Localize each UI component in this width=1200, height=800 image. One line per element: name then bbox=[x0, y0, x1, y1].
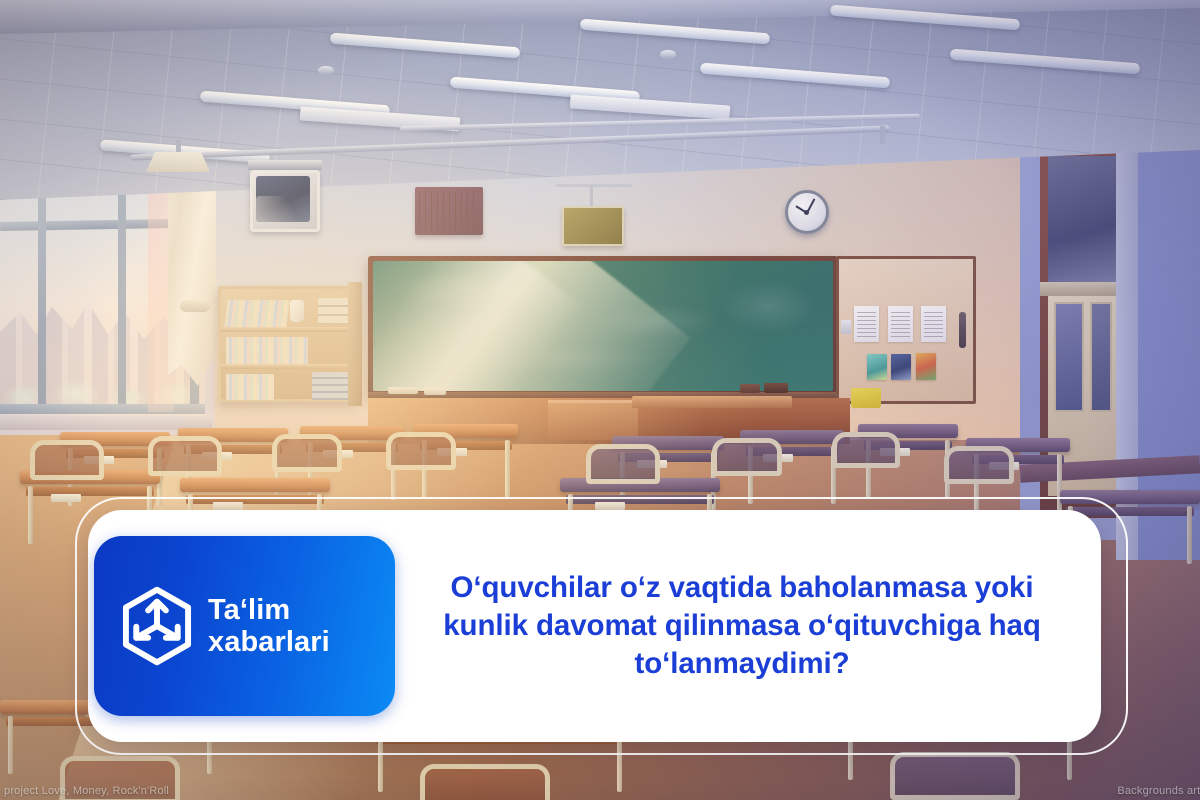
desk-shelf bbox=[566, 495, 714, 504]
student-chair bbox=[386, 432, 456, 470]
watermark-right: Backgrounds art b bbox=[1117, 785, 1200, 797]
student-chair-foreground bbox=[890, 752, 1020, 800]
student-chair bbox=[944, 446, 1014, 484]
brand-name-line1: Ta‘lim bbox=[208, 594, 330, 626]
projector-mount-right bbox=[880, 126, 885, 144]
desk-shelf bbox=[26, 487, 154, 496]
desk-leg bbox=[28, 486, 33, 544]
frame-hanger bbox=[590, 186, 593, 208]
blackboard-sunlight bbox=[373, 261, 833, 391]
student-chair bbox=[586, 444, 660, 484]
brand-name: Ta‘lim xabarlari bbox=[208, 594, 330, 659]
clock-center bbox=[804, 210, 809, 215]
bulletin-poster bbox=[916, 353, 936, 380]
desk-nametag bbox=[213, 502, 243, 510]
headline-container: O‘quvchilar o‘z vaqtida baholanmasa yoki… bbox=[395, 510, 1101, 742]
chalk-box bbox=[764, 383, 788, 393]
door-glass-lower-right bbox=[1090, 302, 1112, 412]
teacher-desk bbox=[632, 396, 792, 408]
bulletin-notice bbox=[888, 306, 913, 342]
smoke-detector-icon bbox=[660, 50, 676, 59]
desk-top bbox=[1060, 490, 1200, 504]
chalk-box bbox=[740, 384, 760, 393]
shelf-divider bbox=[221, 364, 355, 369]
chalk-eraser bbox=[388, 387, 418, 394]
student-chair bbox=[272, 434, 342, 472]
shelf-divider bbox=[221, 327, 355, 332]
bulletin-notice bbox=[921, 306, 946, 342]
student-chair bbox=[832, 432, 900, 468]
chalk-eraser bbox=[424, 388, 446, 395]
light-switch bbox=[841, 320, 851, 334]
desk-leg bbox=[8, 716, 13, 774]
wall-board bbox=[562, 206, 624, 246]
desk-leg bbox=[617, 734, 622, 792]
bulletin-poster bbox=[891, 354, 911, 380]
frame-rail bbox=[556, 184, 632, 187]
student-chair bbox=[148, 436, 222, 476]
student-chair bbox=[712, 438, 782, 476]
cube-arrows-icon bbox=[120, 586, 194, 666]
tv-glare bbox=[256, 196, 310, 222]
water-jug bbox=[290, 300, 304, 322]
desk-nametag bbox=[595, 502, 625, 510]
headline-text: O‘quvchilar o‘z vaqtida baholanmasa yoki… bbox=[417, 569, 1067, 682]
books-row bbox=[226, 337, 308, 364]
framed-notice bbox=[415, 187, 483, 235]
hanging-lamp-shade bbox=[146, 152, 210, 172]
student-chair-foreground bbox=[420, 764, 550, 800]
yellow-bin bbox=[851, 388, 881, 408]
brand-panel[interactable]: Ta‘lim xabarlari bbox=[94, 536, 395, 716]
bulletin-poster bbox=[867, 354, 887, 380]
bookshelf-door bbox=[348, 282, 362, 406]
screenshot-root: project Love, Money, Rock'n'Roll Backgro… bbox=[0, 0, 1200, 800]
desk-leg bbox=[505, 440, 510, 498]
brand-name-line2: xabarlari bbox=[208, 626, 330, 658]
tv-bracket bbox=[248, 160, 322, 170]
desk-leg bbox=[378, 734, 383, 792]
books-row bbox=[226, 374, 274, 400]
door-glass-upper bbox=[1048, 156, 1122, 282]
desk-leg bbox=[1187, 506, 1192, 564]
wall-slot bbox=[959, 312, 966, 348]
student-chair bbox=[30, 440, 104, 480]
watermark-left: project Love, Money, Rock'n'Roll bbox=[4, 785, 169, 797]
desk-nametag bbox=[51, 494, 81, 502]
teacher-podium bbox=[548, 400, 638, 440]
desk-shelf bbox=[186, 495, 324, 504]
curtain-tieback bbox=[180, 300, 210, 312]
desk-top bbox=[180, 478, 330, 492]
news-card: Ta‘lim xabarlari O‘quvchilar o‘z vaqtida… bbox=[88, 510, 1101, 742]
framed-notice-inner bbox=[419, 191, 479, 231]
door-glass-lower-left bbox=[1054, 302, 1084, 412]
bulletin-notice bbox=[854, 306, 879, 342]
smoke-detector-icon bbox=[318, 66, 334, 75]
books-row bbox=[224, 300, 289, 327]
